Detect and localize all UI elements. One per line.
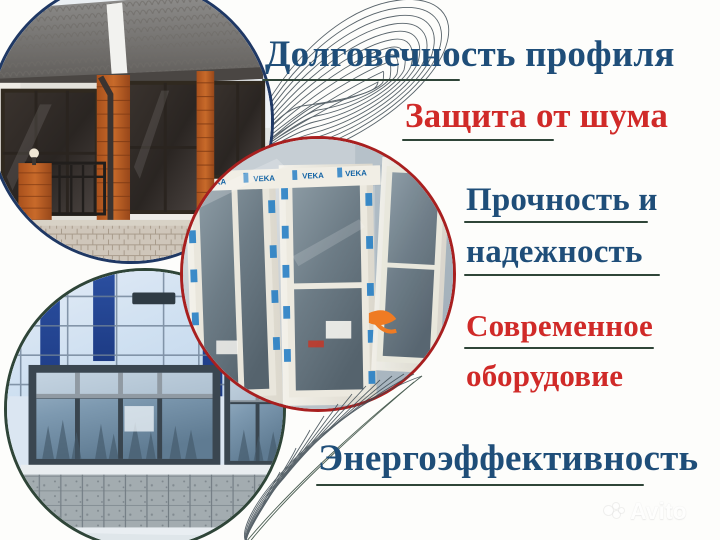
headline-durability: Долговечность профиля [265, 36, 675, 73]
avito-watermark: Avito [604, 500, 687, 523]
avito-wordmark: Avito [630, 500, 687, 523]
headline-reliability: надежность [466, 236, 643, 269]
svg-text:VEKA: VEKA [302, 171, 324, 181]
headline-modern: Современное [466, 310, 653, 341]
headline-rule-5 [464, 347, 654, 349]
headline-rule-1 [262, 79, 460, 81]
svg-text:VEKA: VEKA [345, 168, 367, 178]
headline-rule-7 [316, 484, 644, 486]
headline-rule-3 [464, 221, 648, 223]
poster-canvas: VEKAVEKA VEKAVEKA [0, 0, 720, 540]
pvc-windows-photo: VEKAVEKA VEKAVEKA [180, 136, 456, 412]
headline-rule-4 [464, 274, 660, 276]
headline-equipment: оборудовие [466, 360, 623, 391]
headline-energy-efficiency: Энергоэффективность [318, 440, 698, 477]
avito-dots-icon [604, 503, 625, 521]
headline-noise-protection: Защита от шума [405, 98, 668, 133]
headline-strength: Прочность и [466, 184, 658, 217]
headline-rule-2 [402, 139, 554, 141]
